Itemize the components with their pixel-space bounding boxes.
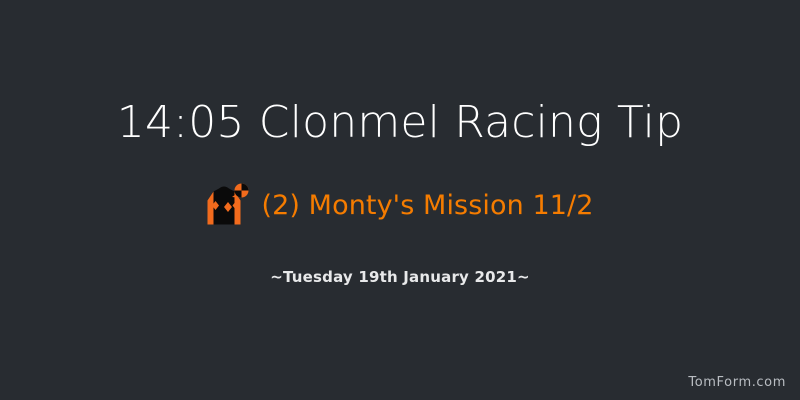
race-date: ~Tuesday 19th January 2021~ [270,270,530,285]
jockey-silk-icon [206,182,250,228]
tip-row[interactable]: (2) Monty's Mission 11/2 [206,182,593,228]
racing-tip-card: 14:05 Clonmel Racing Tip [0,0,800,400]
site-watermark: TomForm.com [688,375,786,390]
tip-selection-text: (2) Monty's Mission 11/2 [261,192,593,219]
page-title: 14:05 Clonmel Racing Tip [117,101,683,145]
silk-icon-wrap [206,182,250,228]
card-content: 14:05 Clonmel Racing Tip [0,0,800,400]
